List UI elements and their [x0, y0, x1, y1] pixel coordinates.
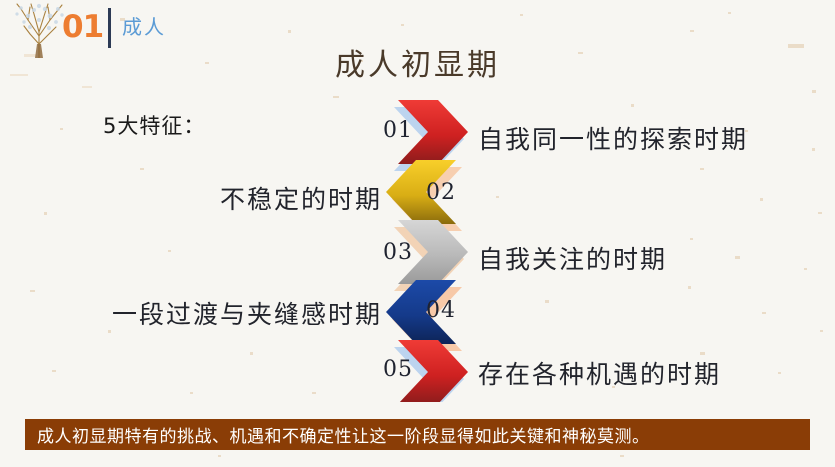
section-number: 01	[62, 12, 103, 43]
step-number-05: 05	[383, 357, 413, 382]
step-text-02: 不稳定的时期	[220, 180, 382, 216]
step-number-01: 01	[383, 118, 413, 143]
lead-in-text: 5大特征：	[103, 110, 205, 140]
step-number-03: 03	[383, 240, 413, 265]
slide-canvas: 01 成人 成人初显期 5大特征：	[0, 0, 835, 467]
step-text-04: 一段过渡与夹缝感时期	[112, 295, 382, 331]
step-text-01: 自我同一性的探索时期	[478, 120, 748, 156]
step-number-02: 02	[426, 180, 456, 205]
page-title: 成人初显期	[0, 40, 835, 84]
summary-banner: 成人初显期特有的挑战、机遇和不确定性让这一阶段显得如此关键和神秘莫测。	[25, 419, 810, 450]
section-label: 成人	[122, 16, 166, 40]
step-text-05: 存在各种机遇的时期	[478, 355, 721, 391]
step-text-03: 自我关注的时期	[478, 240, 667, 276]
summary-banner-text: 成人初显期特有的挑战、机遇和不确定性让这一阶段显得如此关键和神秘莫测。	[37, 422, 650, 447]
step-number-04: 04	[426, 298, 456, 323]
